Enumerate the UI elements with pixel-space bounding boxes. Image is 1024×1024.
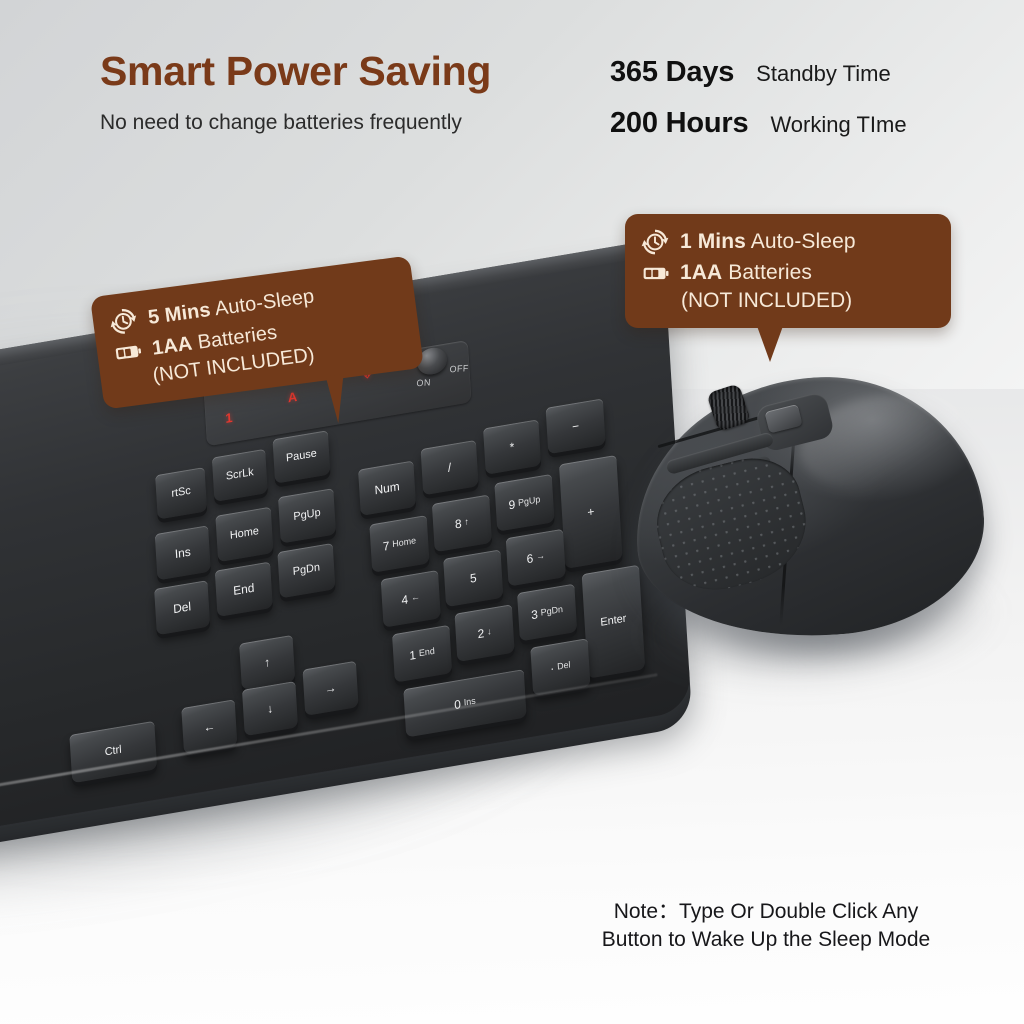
key-num6-label: 6: [526, 552, 533, 566]
key-numlock[interactable]: Num: [358, 461, 416, 516]
key-enter-label: Enter: [600, 614, 627, 630]
product-feature-image: 1 A ⇩ ON OFF rtScScrLkPauseInsHomePgUpDe…: [0, 0, 1024, 1024]
key-scrlk[interactable]: ScrLk: [212, 449, 268, 502]
clock-refresh-icon: [108, 306, 139, 337]
key-multiply-label: *: [509, 440, 514, 453]
key-numdel-label: ·: [550, 662, 555, 675]
key-num3[interactable]: 3PgDn: [517, 584, 577, 642]
key-num3-sublabel: PgDn: [541, 605, 564, 618]
key-num8-label: 8: [455, 517, 462, 531]
key-pause-label: Pause: [286, 449, 317, 466]
key-num5-label: 5: [470, 571, 477, 585]
wake-up-note-line1: Note：Type Or Double Click Any: [566, 898, 966, 926]
key-num1-sublabel: End: [419, 647, 435, 659]
key-num5[interactable]: 5: [443, 549, 503, 607]
mouse-callout-battery-note: (NOT INCLUDED): [681, 289, 933, 313]
key-minus[interactable]: −: [546, 398, 606, 454]
key-pgup[interactable]: PgUp: [278, 488, 336, 543]
key-numdel-sublabel: Del: [557, 661, 571, 673]
spec-working-label: Working TIme: [770, 112, 906, 138]
key-num7-sublabel: Home: [392, 536, 416, 549]
num-lock-indicator: 1: [225, 410, 233, 426]
clock-refresh-icon: [641, 228, 669, 256]
key-pgdn[interactable]: PgDn: [277, 543, 335, 598]
key-num9-sublabel: PgUp: [518, 495, 541, 508]
key-pgdn-label: PgDn: [292, 563, 320, 579]
key-prtsc[interactable]: rtSc: [155, 467, 207, 519]
spec-standby-label: Standby Time: [756, 61, 891, 87]
wake-up-note: Note：Type Or Double Click Any Button to …: [566, 898, 966, 953]
key-del[interactable]: Del: [154, 580, 210, 635]
key-num7-label: 7: [382, 539, 389, 553]
key-num4-label: 4: [401, 593, 408, 607]
page-subtitle: No need to change batteries frequently: [100, 111, 462, 135]
mouse-callout-battery-row: 1AA Batteries: [641, 259, 933, 287]
key-num2-sublabel: ↓: [487, 627, 492, 637]
key-arrow-right-label: →: [324, 681, 337, 696]
spec-standby-time: 365 Days Standby Time: [610, 56, 891, 89]
key-num4[interactable]: 4←: [381, 570, 441, 628]
mouse-callout-sleep-row: 1 Mins Auto-Sleep: [641, 228, 933, 256]
key-multiply[interactable]: *: [483, 419, 541, 474]
key-arrow-right[interactable]: →: [303, 661, 359, 716]
mouse-power-callout: 1 Mins Auto-Sleep 1AA Batteries (NOT INC…: [625, 214, 951, 328]
key-num2-label: 2: [477, 627, 484, 641]
key-scrlk-label: ScrLk: [226, 467, 254, 483]
key-minus-label: −: [572, 419, 580, 433]
keyboard-callout-tail: [326, 375, 348, 424]
key-num8-sublabel: ↑: [464, 517, 469, 527]
key-del-label: Del: [173, 600, 192, 616]
key-num9[interactable]: 9PgUp: [494, 474, 554, 532]
key-num0[interactable]: 0Ins: [403, 669, 526, 737]
key-plus-label: +: [587, 505, 595, 519]
page-title: Smart Power Saving: [100, 48, 491, 95]
key-numlock-label: Num: [374, 480, 400, 497]
key-ins[interactable]: Ins: [155, 525, 211, 580]
key-num3-label: 3: [531, 608, 538, 622]
caps-lock-indicator: A: [287, 389, 297, 406]
product-photo-scene: 1 A ⇩ ON OFF rtScScrLkPauseInsHomePgUpDe…: [0, 0, 1024, 1024]
spec-standby-value: 365 Days: [610, 56, 734, 89]
key-divide[interactable]: /: [421, 440, 479, 495]
key-num6[interactable]: 6→: [506, 529, 566, 587]
mouse-callout-battery-text: 1AA Batteries: [680, 261, 812, 285]
power-switch-off-label: OFF: [449, 363, 469, 374]
key-divide-label: /: [448, 461, 452, 474]
spec-working-value: 200 Hours: [610, 107, 748, 140]
power-switch-on-label: ON: [416, 377, 431, 388]
key-arrow-left-label: ←: [203, 720, 216, 735]
key-home[interactable]: Home: [215, 507, 273, 562]
key-num1-label: 1: [409, 648, 416, 662]
key-home-label: Home: [230, 526, 260, 542]
key-num6-sublabel: →: [536, 551, 545, 562]
battery-icon: [112, 336, 143, 367]
battery-icon: [641, 259, 669, 287]
key-ctrl[interactable]: Ctrl: [69, 721, 157, 783]
key-prtsc-label: rtSc: [171, 486, 191, 501]
key-arrow-up-label: ↑: [264, 656, 271, 670]
wake-up-note-line2: Button to Wake Up the Sleep Mode: [566, 926, 966, 954]
key-pgup-label: PgUp: [293, 508, 321, 524]
key-plus[interactable]: +: [559, 455, 623, 569]
mouse-callout-tail: [757, 326, 783, 362]
key-pause[interactable]: Pause: [273, 430, 331, 483]
key-ins-label: Ins: [174, 545, 191, 560]
key-arrow-down-label: ↓: [267, 702, 274, 716]
key-num4-sublabel: ←: [411, 593, 420, 604]
key-num2[interactable]: 2↓: [455, 604, 515, 662]
key-arrow-down[interactable]: ↓: [242, 681, 298, 736]
key-num8[interactable]: 8↑: [432, 494, 492, 552]
key-num7[interactable]: 7Home: [369, 515, 429, 573]
scroll-wheel[interactable]: [706, 383, 751, 432]
spec-working-time: 200 Hours Working TIme: [610, 107, 907, 140]
mouse-callout-sleep-text: 1 Mins Auto-Sleep: [680, 230, 856, 254]
key-end[interactable]: End: [215, 562, 273, 617]
key-end-label: End: [233, 581, 255, 597]
key-num1[interactable]: 1End: [392, 625, 452, 683]
key-ctrl-label: Ctrl: [104, 745, 122, 759]
key-num9-label: 9: [508, 498, 515, 512]
wireless-mouse: [618, 356, 1007, 693]
